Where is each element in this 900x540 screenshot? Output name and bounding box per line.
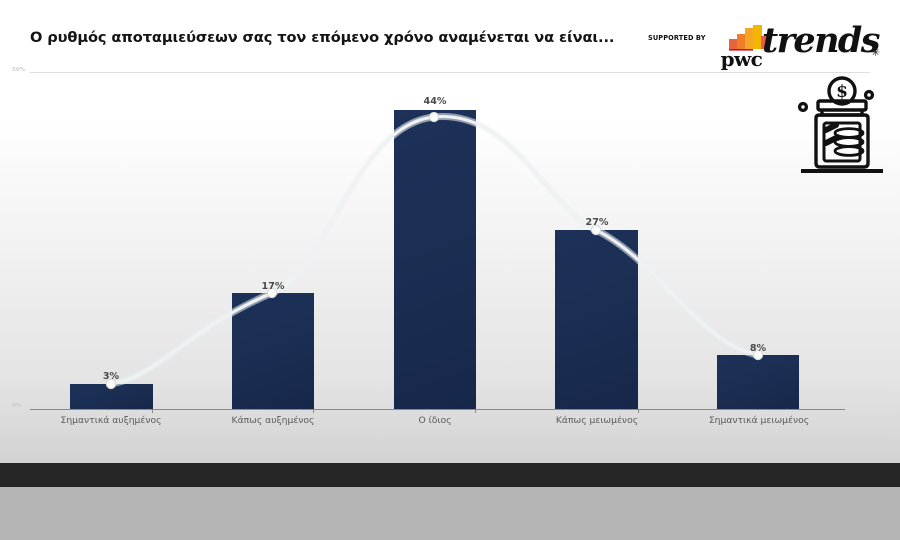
category-label-1: Κάπως αυξημένος <box>193 415 353 426</box>
category-label-2: Ο ίδιος <box>355 415 515 426</box>
axis-tick <box>313 409 314 413</box>
bar-value-2: 44% <box>405 96 465 107</box>
supported-by-block: SUPPORTED BY pwc <box>648 25 775 71</box>
bar-4[interactable] <box>717 355 799 409</box>
slide-root: Ο ρυθμός αποταμιεύσεων σας τον επόμενο χ… <box>0 0 900 540</box>
slide-footer: 21 ΒΑΣΗ: 428 ΟΣΟΙ ΣΥΝΗΘΙΖΟΥΝ ΝΑ ΑΠΟΤΑΜΙΕ… <box>0 487 900 540</box>
footer-dark-band <box>0 463 900 487</box>
savings-jar-icon: $ <box>790 74 894 182</box>
bar-value-1: 17% <box>243 281 303 292</box>
category-label-3: Κάπως μειωμένος <box>517 415 677 426</box>
slide-header: Ο ρυθμός αποταμιεύσεων σας τον επόμενο χ… <box>0 0 900 72</box>
bar-value-0: 3% <box>81 371 141 382</box>
axis-max-label: 50% <box>12 67 25 73</box>
axis-tick <box>152 409 153 413</box>
bar-2[interactable] <box>394 110 476 409</box>
bar-value-3: 27% <box>567 217 627 228</box>
pwc-wordmark: pwc <box>721 47 763 71</box>
bar-3[interactable] <box>555 230 638 409</box>
axis-tick <box>638 409 639 413</box>
category-label-0: Σημαντικά αυξημένος <box>31 415 191 426</box>
axis-top-gridline <box>30 72 870 73</box>
bar-value-4: 8% <box>728 343 788 354</box>
bar-0[interactable] <box>70 384 153 409</box>
category-label-4: Σημαντικά μειωμένος <box>679 415 839 426</box>
trends-wordmark: trends <box>762 23 879 58</box>
page-title: Ο ρυθμός αποταμιεύσεων σας τον επόμενο χ… <box>30 29 614 46</box>
trends-star-icon: ✳ <box>871 47 880 58</box>
bar-1[interactable] <box>232 293 314 409</box>
axis-tick <box>475 409 476 413</box>
svg-text:$: $ <box>836 82 848 102</box>
supported-by-label: SUPPORTED BY <box>648 34 706 42</box>
axis-zero-label: 0% <box>12 403 22 409</box>
